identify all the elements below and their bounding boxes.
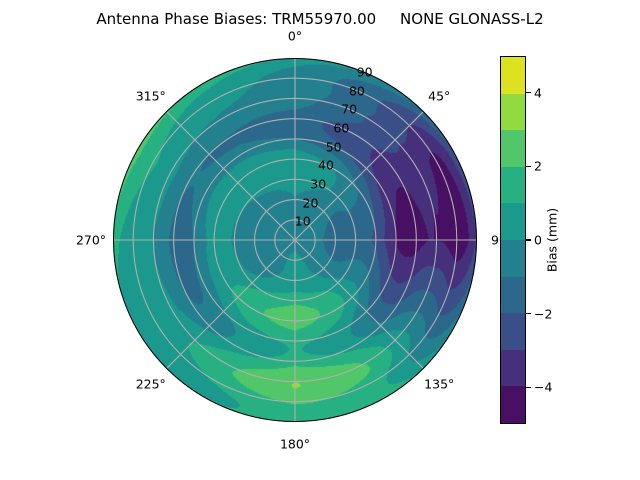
colorbar-tick-label: −4 <box>534 380 552 395</box>
radial-tick-label-20: 20 <box>303 195 319 210</box>
theta-tick-label-315: 315° <box>136 88 166 103</box>
theta-tick-label-180: 180° <box>280 437 310 452</box>
colorbar-band <box>501 313 525 350</box>
colorbar-tick-label: 0 <box>534 233 542 248</box>
theta-tick-label-0: 0° <box>288 29 302 44</box>
colorbar-tick-label: 2 <box>534 159 542 174</box>
polar-axes[interactable] <box>113 58 477 422</box>
colorbar-band <box>501 386 525 423</box>
polar-contour-field <box>113 58 477 422</box>
colorbar-band <box>501 57 525 94</box>
theta-tick-label-270: 270° <box>76 233 106 248</box>
colorbar-tick-label: −2 <box>534 306 552 321</box>
colorbar-tick-mark <box>526 166 531 167</box>
theta-tick-label-225: 225° <box>136 377 166 392</box>
colorbar-tick-mark <box>526 313 531 314</box>
radial-tick-label-50: 50 <box>326 139 342 154</box>
colorbar-band <box>501 240 525 277</box>
polar-contour-region <box>113 58 477 422</box>
colorbar-band <box>501 203 525 240</box>
radial-tick-label-90: 90 <box>357 64 373 79</box>
colorbar-title: Bias (mm) <box>545 208 560 272</box>
colorbar-band <box>501 277 525 314</box>
colorbar[interactable]: 420−2−4 <box>500 56 526 424</box>
radial-tick-label-30: 30 <box>310 176 326 191</box>
radial-tick-label-70: 70 <box>341 102 357 117</box>
colorbar-band <box>501 130 525 167</box>
radial-tick-label-60: 60 <box>333 120 349 135</box>
colorbar-band <box>501 94 525 131</box>
colorbar-tick-mark <box>526 239 531 240</box>
colorbar-tick-mark <box>526 387 531 388</box>
colorbar-tick-label: 4 <box>534 85 542 100</box>
radial-tick-label-40: 40 <box>318 158 334 173</box>
radial-tick-label-80: 80 <box>349 83 365 98</box>
colorbar-band <box>501 167 525 204</box>
colorbar-gradient <box>500 56 526 424</box>
theta-tick-label-45: 45° <box>428 88 450 103</box>
colorbar-band <box>501 350 525 387</box>
radial-tick-label-10: 10 <box>295 214 311 229</box>
figure-canvas: Antenna Phase Biases: TRM55970.00 NONE G… <box>0 0 640 480</box>
figure-title: Antenna Phase Biases: TRM55970.00 NONE G… <box>0 10 640 28</box>
theta-tick-label-135: 135° <box>424 377 454 392</box>
colorbar-tick-mark <box>526 92 531 93</box>
